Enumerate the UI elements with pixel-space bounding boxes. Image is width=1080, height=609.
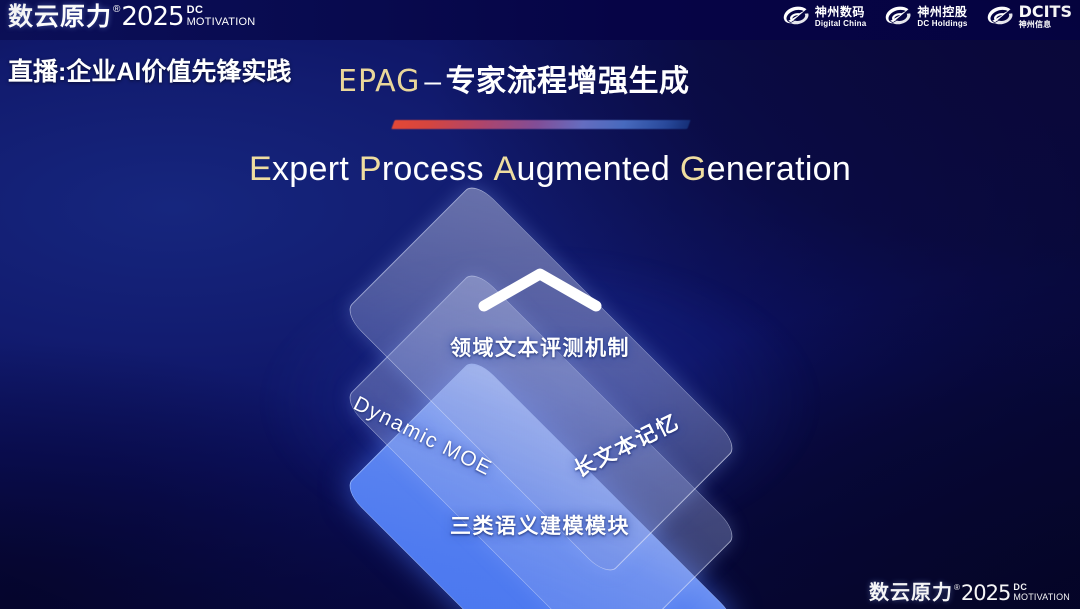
swirl-logo-icon [884,5,912,29]
partner-name-cn: 神州控股 [917,6,967,19]
subtitle-word-rest: ugmented [517,150,671,188]
brand-logo: 数云原力 ® 2025 DC MOTIVATION [8,2,255,32]
gradient-divider [391,120,690,129]
watermark-dc-motivation: DC MOTIVATION [1013,583,1070,602]
watermark-name-cn: 数云原力 [869,581,953,605]
subtitle-word-rest: rocess [382,150,484,188]
watermark-year: 2025 [961,581,1010,605]
stack-label-top: 领域文本评测机制 [260,332,820,362]
brand-year: 2025 [121,2,183,32]
brand-registered-mark: ® [113,3,120,17]
subtitle-word-initial: G [680,150,707,188]
partner-name-en: DC Holdings [917,19,967,29]
partner-logo-group: 神州数码 Digital China 神州控股 DC Holdings DCIT… [782,4,1072,30]
chevron-up-icon [476,266,604,312]
partner-logo-dcits: DCITS 神州信息 [986,4,1072,30]
partner-text: DCITS 神州信息 [1019,4,1072,30]
partner-logo-dc-holdings: 神州控股 DC Holdings [884,5,967,29]
subtitle-word-rest: xpert [272,150,349,188]
partner-name-en: 神州信息 [1019,20,1072,30]
presentation-slide: 数云原力 ® 2025 DC MOTIVATION 神州数码 Digital C… [0,0,1080,609]
layer-stack-diagram: 领域文本评测机制 Dynamic MOE 长文本记忆 三类语义建模模块 [260,222,820,582]
partner-logo-digital-china: 神州数码 Digital China [782,5,867,29]
brand-name-cn: 数云原力 [8,2,112,32]
watermark-registered-mark: ® [954,582,960,593]
brand-dc-line1: DC [187,5,256,16]
headline-chinese: 专家流程增强生成 [446,65,690,98]
headline-dash: – [420,65,445,98]
subtitle-word-rest: eneration [707,150,851,188]
brand-dc-line2: MOTIVATION [187,16,256,28]
watermark-logo: 数云原力 ® 2025 DC MOTIVATION [869,581,1070,605]
stack-label-bottom: 三类语义建模模块 [260,510,820,540]
partner-text: 神州数码 Digital China [815,6,867,29]
subtitle-english: Expert Process Augmented Generation [249,150,851,189]
watermark-dc-line2: MOTIVATION [1013,592,1070,602]
headline: EPAG–专家流程增强生成 [338,56,690,100]
partner-text: 神州控股 DC Holdings [917,6,967,29]
subtitle-word-initial: P [359,150,382,188]
swirl-logo-icon [782,5,810,29]
partner-name-cn: 神州数码 [815,6,867,19]
partner-name-en: Digital China [815,19,867,29]
partner-name-cn: DCITS [1019,4,1072,20]
watermark-dc-line1: DC [1013,583,1070,592]
headline-acronym: EPAG [338,64,420,99]
subtitle-word-initial: E [249,150,272,188]
swirl-logo-icon [986,5,1014,29]
brand-dc-motivation: DC MOTIVATION [187,5,256,28]
live-broadcast-title: 直播:企业AI价值先锋实践 [8,52,291,88]
subtitle-word-initial: A [494,150,517,188]
